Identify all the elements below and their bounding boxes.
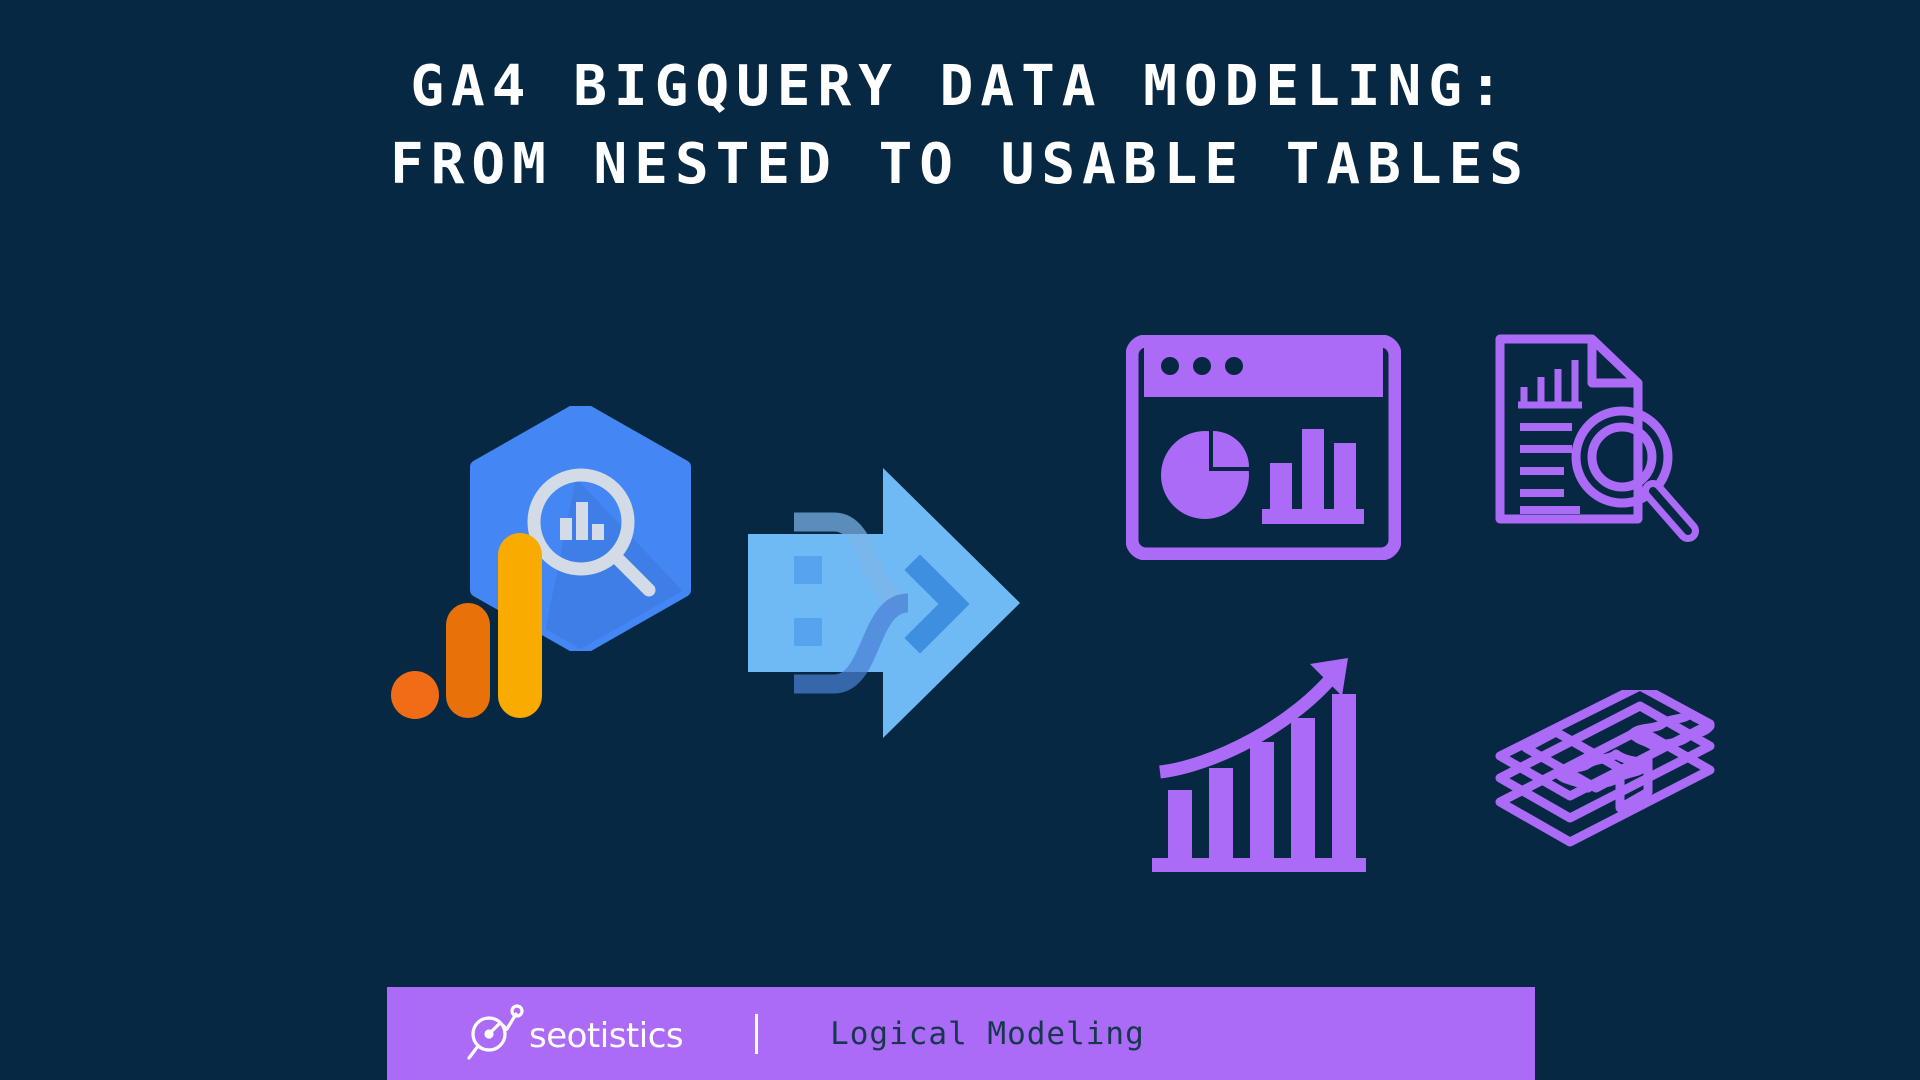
dashboard-window-icon xyxy=(1126,335,1401,560)
poster-canvas: GA4 BIGQUERY DATA MODELING: FROM NESTED … xyxy=(0,0,1920,1080)
brand-name: seotistics xyxy=(529,1019,683,1053)
footer-bar: seotistics Logical Modeling xyxy=(387,987,1535,1080)
transform-arrow-icon xyxy=(748,468,1023,738)
growth-bar-chart-icon xyxy=(1152,650,1372,880)
title-line-2: FROM NESTED TO USABLE TABLES xyxy=(0,126,1920,204)
brand-logo[interactable]: seotistics xyxy=(467,1003,683,1065)
footer-divider xyxy=(755,1014,758,1054)
footer-subtitle: Logical Modeling xyxy=(830,1016,1145,1052)
google-analytics-logo xyxy=(390,533,555,723)
page-title: GA4 BIGQUERY DATA MODELING: FROM NESTED … xyxy=(0,48,1920,204)
magnifier-trendline-icon xyxy=(467,1003,525,1065)
money-stack-icon xyxy=(1492,690,1718,870)
report-magnifier-icon xyxy=(1492,333,1718,558)
title-line-1: GA4 BIGQUERY DATA MODELING: xyxy=(0,48,1920,126)
